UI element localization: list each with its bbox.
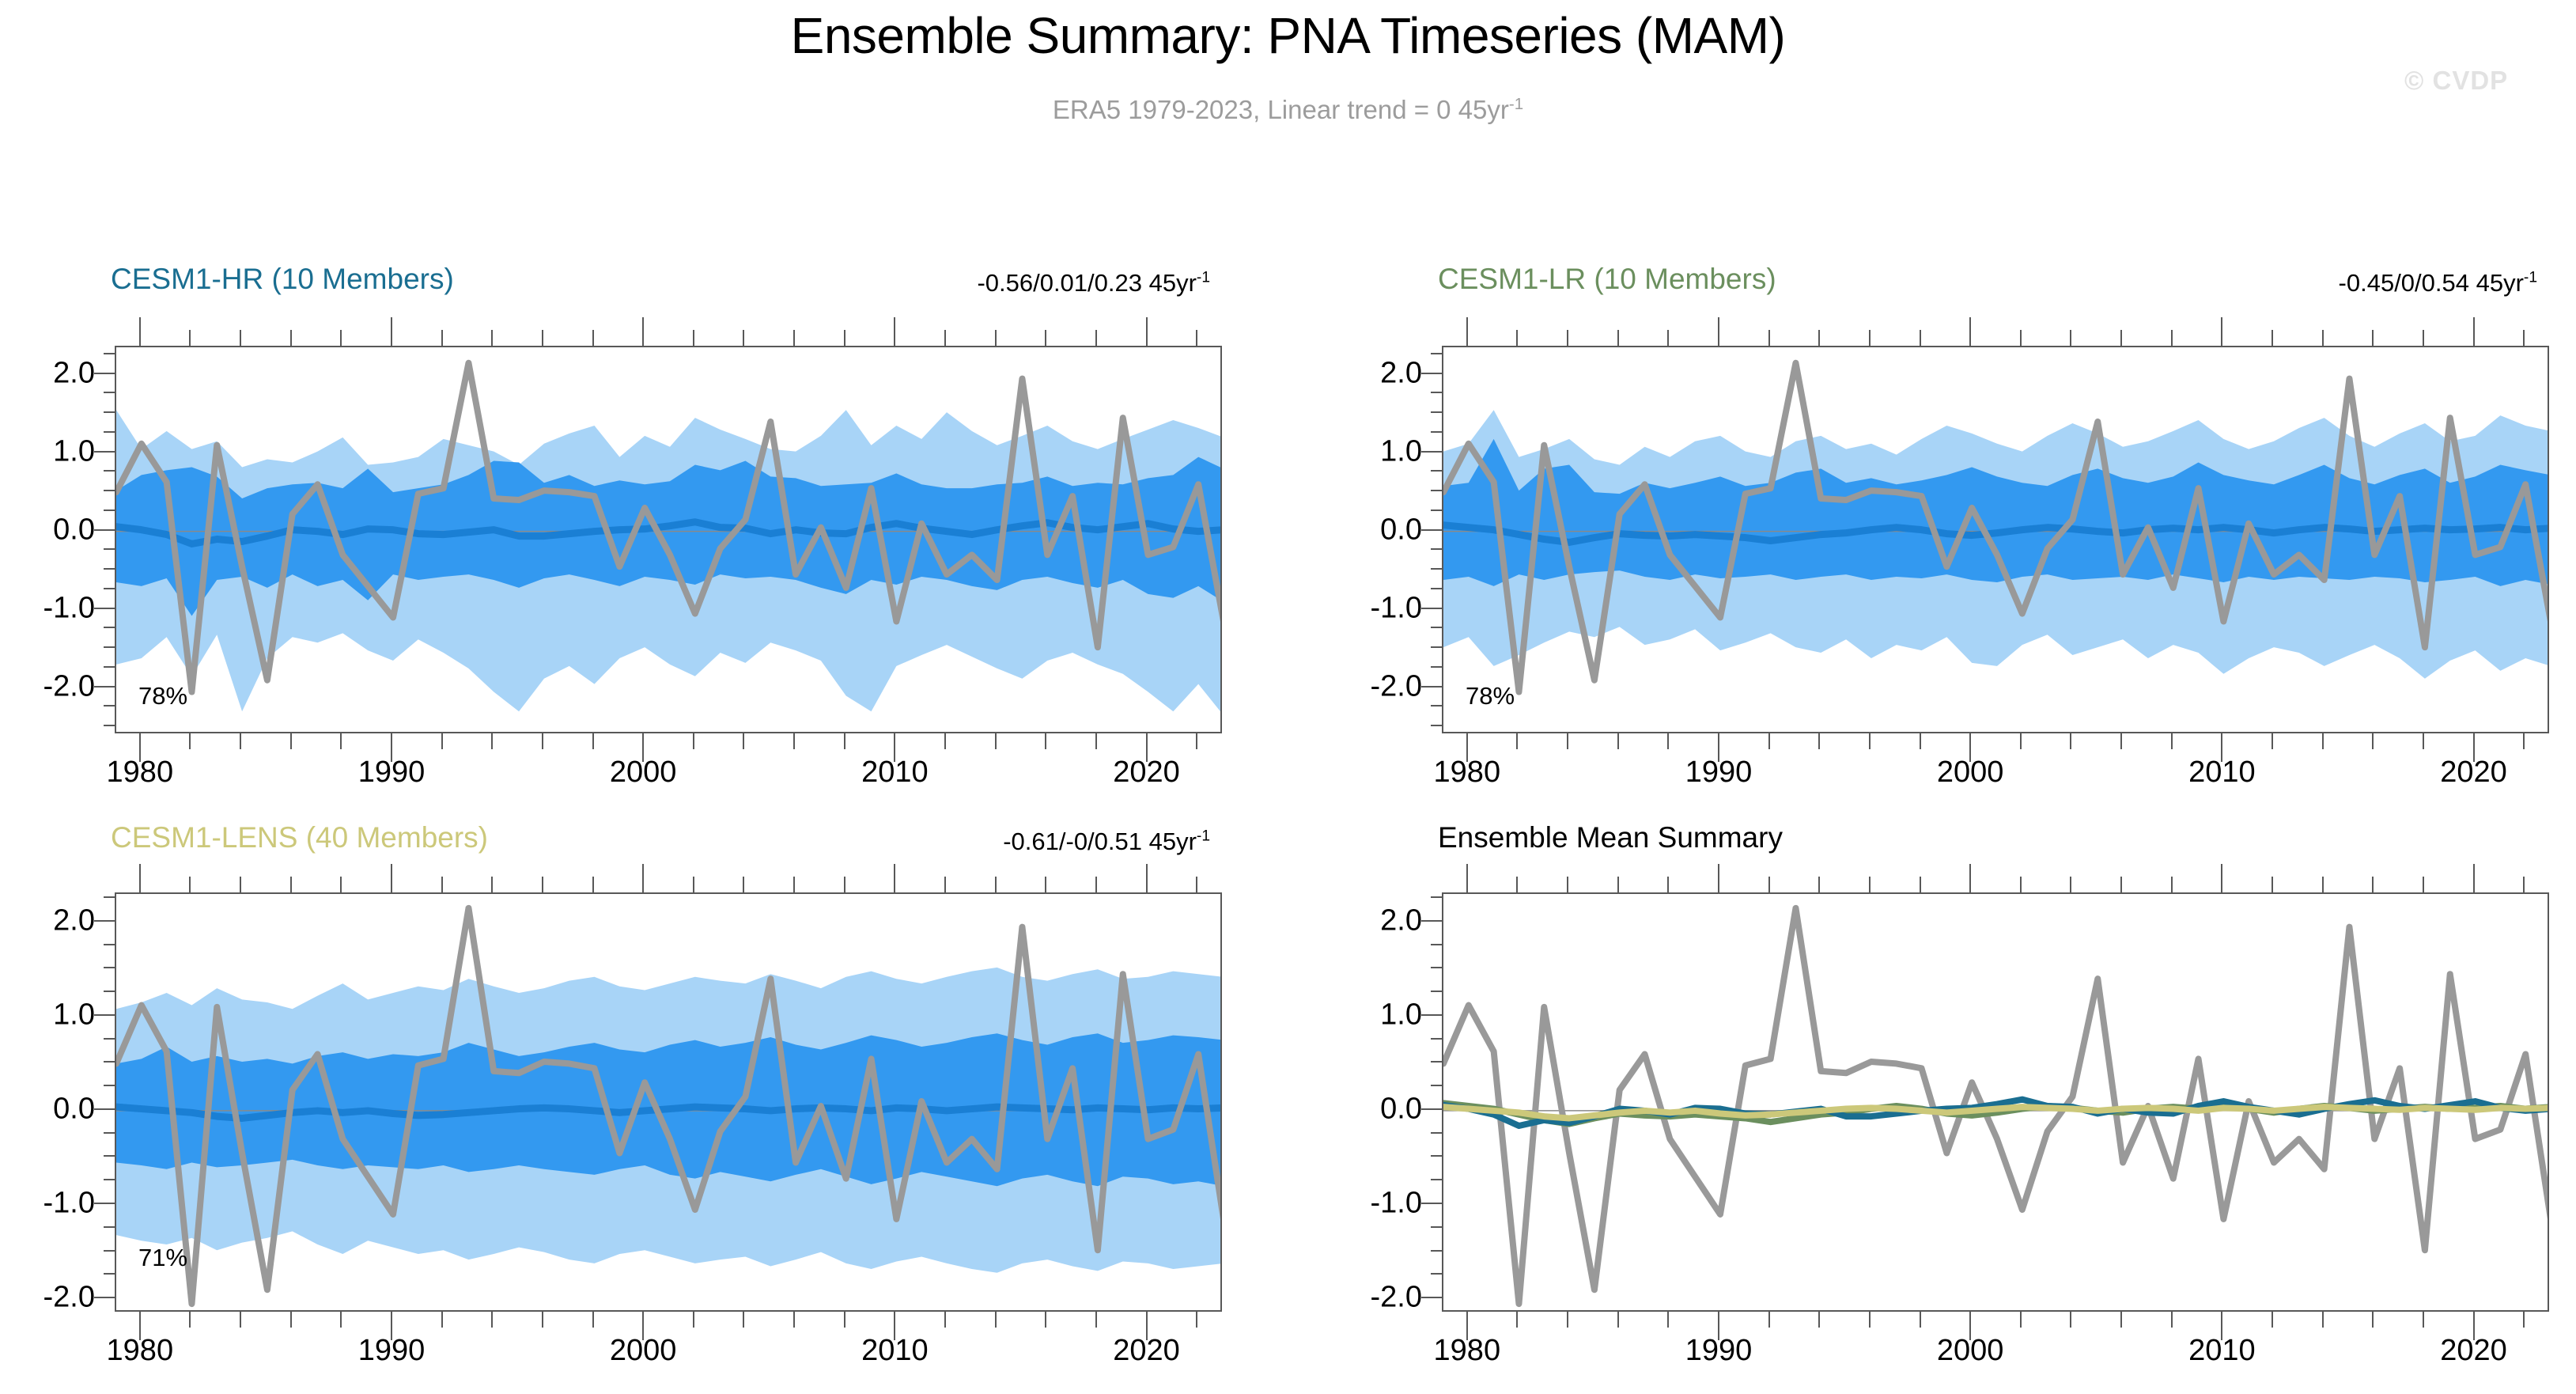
page-title: Ensemble Summary: PNA Timeseries (MAM)	[0, 6, 2576, 65]
xtick-minor	[793, 733, 795, 749]
xtick-minor	[2171, 1312, 2173, 1328]
xtick-minor	[1617, 1312, 1619, 1328]
ytick-minor	[1431, 991, 1442, 992]
ytick-label-2: 0.0	[1303, 513, 1422, 547]
xtick-minor	[2523, 330, 2525, 346]
xtick-minor	[1818, 733, 1820, 749]
ytick-major-1	[94, 1014, 115, 1016]
xtick-minor	[1045, 733, 1046, 749]
ytick-minor	[104, 646, 115, 648]
ytick-minor	[1431, 1155, 1442, 1157]
ytick-minor	[104, 431, 115, 433]
xtick-minor	[1617, 330, 1619, 346]
xtick-minor	[542, 877, 543, 892]
xtick-minor	[2423, 330, 2424, 346]
xtick-minor	[793, 1312, 795, 1328]
xtick-minor	[2423, 1312, 2424, 1328]
xtick-minor	[2120, 733, 2122, 749]
xtick-minor	[844, 1312, 845, 1328]
ytick-minor	[1431, 1179, 1442, 1180]
xtick-minor	[1667, 877, 1669, 892]
xtick-minor	[844, 877, 845, 892]
ytick-minor	[1431, 411, 1442, 413]
xtick-minor	[2423, 733, 2424, 749]
pct-in-range-cesm1-lens: 71%	[138, 1244, 187, 1272]
xtick-minor	[2322, 877, 2324, 892]
xtick-minor	[290, 733, 292, 749]
ytick-minor	[104, 1273, 115, 1275]
xtick-major-3	[894, 1312, 895, 1340]
xtick-minor	[592, 877, 594, 892]
xtick-major-3	[2221, 864, 2222, 892]
ytick-minor	[1431, 588, 1442, 589]
ytick-label-2: 0.0	[0, 513, 95, 547]
xtick-minor	[2523, 1312, 2525, 1328]
trend-superscript: -1	[1197, 828, 1210, 845]
xtick-major-0	[139, 317, 141, 346]
xtick-minor	[1920, 733, 1921, 749]
xtick-major-2	[1969, 864, 1971, 892]
xtick-minor	[1617, 733, 1619, 749]
panel-trend-cesm1-lens: -0.61/-0/0.51 45yr-1	[0, 828, 1210, 856]
xtick-minor	[1095, 1312, 1097, 1328]
xtick-minor	[1516, 877, 1518, 892]
ytick-minor	[104, 944, 115, 945]
ytick-minor	[104, 588, 115, 589]
xtick-minor	[944, 733, 946, 749]
xtick-minor	[995, 1312, 997, 1328]
xtick-minor	[1045, 877, 1046, 892]
xtick-minor	[1196, 330, 1197, 346]
ytick-major-1	[94, 451, 115, 453]
xtick-major-0	[139, 733, 141, 762]
xtick-major-3	[2221, 317, 2222, 346]
xtick-major-2	[1969, 1312, 1971, 1340]
ytick-minor	[1431, 725, 1442, 726]
xtick-minor	[592, 330, 594, 346]
xtick-major-2	[642, 864, 644, 892]
xtick-major-1	[391, 864, 392, 892]
ytick-minor	[1431, 666, 1442, 668]
ytick-label-1: 1.0	[1303, 434, 1422, 468]
xtick-minor	[441, 1312, 443, 1328]
ytick-minor	[1431, 431, 1442, 433]
ytick-minor	[104, 991, 115, 992]
series-canvas-cesm1-lr	[1443, 347, 2549, 733]
xtick-major-0	[1466, 864, 1468, 892]
ytick-label-1: 1.0	[1303, 998, 1422, 1032]
ytick-major-2	[1421, 529, 1442, 531]
ytick-minor	[1431, 705, 1442, 706]
xtick-minor	[693, 330, 694, 346]
ytick-minor	[104, 470, 115, 472]
xtick-minor	[290, 1312, 292, 1328]
series-canvas-ensemble-mean-summary	[1443, 894, 2549, 1312]
xtick-minor	[189, 1312, 191, 1328]
xtick-major-4	[2473, 1312, 2475, 1340]
ytick-minor	[1431, 1038, 1442, 1040]
xtick-minor	[844, 330, 845, 346]
xtick-minor	[1869, 330, 1871, 346]
xtick-minor	[1667, 1312, 1669, 1328]
xtick-minor	[1818, 330, 1820, 346]
xtick-major-4	[1146, 864, 1148, 892]
xtick-minor	[441, 330, 443, 346]
xtick-minor	[2070, 330, 2071, 346]
subtitle-text: ERA5 1979-2023, Linear trend = 0 45yr	[1053, 95, 1509, 124]
ytick-minor	[104, 1155, 115, 1157]
plot-area-cesm1-hr	[115, 346, 1222, 733]
ytick-minor	[1431, 490, 1442, 491]
xtick-minor	[2020, 330, 2022, 346]
xtick-minor	[1095, 877, 1097, 892]
xtick-minor	[844, 733, 845, 749]
xtick-minor	[2271, 877, 2273, 892]
xtick-major-2	[642, 1312, 644, 1340]
ytick-minor	[104, 705, 115, 706]
xtick-minor	[240, 877, 241, 892]
ytick-label-0: 2.0	[1303, 903, 1422, 938]
xtick-minor	[2120, 1312, 2122, 1328]
ytick-major-1	[1421, 1014, 1442, 1016]
panel-trend-cesm1-lr: -0.45/0/0.54 45yr-1	[0, 269, 2537, 297]
ytick-major-3	[1421, 608, 1442, 609]
xtick-minor	[793, 877, 795, 892]
xtick-minor	[1768, 733, 1770, 749]
xtick-minor	[542, 733, 543, 749]
xtick-major-0	[139, 1312, 141, 1340]
xtick-minor	[693, 733, 694, 749]
xtick-minor	[2372, 877, 2374, 892]
xtick-minor	[2322, 330, 2324, 346]
xtick-major-3	[894, 733, 895, 762]
xtick-minor	[1045, 330, 1046, 346]
xtick-major-2	[642, 733, 644, 762]
xtick-minor	[995, 877, 997, 892]
ytick-major-1	[1421, 451, 1442, 453]
ytick-minor	[1431, 353, 1442, 354]
xtick-minor	[2070, 1312, 2071, 1328]
xtick-minor	[340, 1312, 342, 1328]
xtick-minor	[1516, 1312, 1518, 1328]
xtick-minor	[491, 733, 493, 749]
ytick-minor	[104, 490, 115, 491]
ytick-minor	[1431, 568, 1442, 570]
ytick-label-2: 0.0	[1303, 1092, 1422, 1126]
ytick-minor	[104, 1085, 115, 1086]
xtick-major-4	[1146, 1312, 1148, 1340]
xtick-minor	[1869, 877, 1871, 892]
ytick-minor	[1431, 392, 1442, 393]
xtick-minor	[441, 733, 443, 749]
ytick-label-0: 2.0	[1303, 356, 1422, 390]
xtick-major-0	[1466, 733, 1468, 762]
xtick-minor	[290, 330, 292, 346]
xtick-minor	[1567, 330, 1568, 346]
xtick-minor	[1045, 1312, 1046, 1328]
xtick-minor	[743, 877, 744, 892]
ytick-minor	[1431, 646, 1442, 648]
xtick-minor	[743, 733, 744, 749]
xtick-minor	[1617, 877, 1619, 892]
ytick-major-0	[94, 373, 115, 374]
ytick-major-4	[94, 1297, 115, 1298]
panel-title-ensemble-mean-summary: Ensemble Mean Summary	[1438, 821, 1783, 854]
xtick-minor	[2271, 1312, 2273, 1328]
ytick-label-0: 2.0	[0, 356, 95, 390]
xtick-minor	[1768, 1312, 1770, 1328]
xtick-minor	[2070, 733, 2071, 749]
xtick-minor	[340, 877, 342, 892]
trend-superscript: -1	[2524, 270, 2537, 286]
series-canvas-cesm1-lens	[116, 894, 1222, 1312]
xtick-minor	[743, 330, 744, 346]
xtick-minor	[189, 733, 191, 749]
ytick-major-0	[1421, 373, 1442, 374]
ytick-major-3	[94, 1203, 115, 1204]
page-subtitle: ERA5 1979-2023, Linear trend = 0 45yr-1	[0, 95, 2576, 125]
plot-area-cesm1-lr	[1442, 346, 2549, 733]
ytick-minor	[104, 896, 115, 898]
xtick-minor	[592, 733, 594, 749]
ytick-minor	[104, 353, 115, 354]
ytick-minor	[1431, 509, 1442, 511]
xtick-minor	[1567, 877, 1568, 892]
xtick-major-0	[1466, 1312, 1468, 1340]
trend-value: -0.45/0/0.54 45yr	[2339, 269, 2524, 297]
xtick-minor	[2372, 1312, 2374, 1328]
ytick-minor	[104, 627, 115, 628]
xtick-minor	[240, 330, 241, 346]
ytick-major-2	[94, 1108, 115, 1110]
xtick-minor	[1196, 733, 1197, 749]
series-canvas-cesm1-hr	[116, 347, 1222, 733]
xtick-minor	[2120, 330, 2122, 346]
xtick-minor	[693, 877, 694, 892]
ytick-major-4	[94, 686, 115, 688]
ytick-label-1: 1.0	[0, 434, 95, 468]
xtick-minor	[240, 1312, 241, 1328]
xtick-minor	[995, 733, 997, 749]
cvdp-watermark: © CVDP	[2404, 66, 2508, 96]
ytick-major-4	[1421, 1297, 1442, 1298]
ytick-label-3: -1.0	[1303, 591, 1422, 625]
xtick-minor	[1516, 330, 1518, 346]
ytick-minor	[1431, 627, 1442, 628]
xtick-major-2	[642, 317, 644, 346]
xtick-minor	[1567, 733, 1568, 749]
xtick-minor	[2523, 877, 2525, 892]
ytick-label-4: -2.0	[1303, 669, 1422, 703]
xtick-major-4	[1146, 317, 1148, 346]
xtick-major-4	[2473, 864, 2475, 892]
ytick-major-0	[1421, 920, 1442, 922]
xtick-major-4	[1146, 733, 1148, 762]
xtick-major-3	[894, 317, 895, 346]
xtick-minor	[2372, 330, 2374, 346]
xtick-minor	[995, 330, 997, 346]
xtick-minor	[2020, 877, 2022, 892]
xtick-minor	[1869, 733, 1871, 749]
xtick-major-4	[2473, 733, 2475, 762]
ytick-minor	[104, 568, 115, 570]
trend-value: -0.61/-0/0.51 45yr	[1003, 828, 1197, 855]
plot-area-cesm1-lens	[115, 892, 1222, 1312]
ytick-minor	[104, 1061, 115, 1063]
xtick-minor	[1196, 877, 1197, 892]
xtick-major-1	[391, 733, 392, 762]
xtick-minor	[240, 733, 241, 749]
xtick-minor	[189, 330, 191, 346]
xtick-minor	[2372, 733, 2374, 749]
xtick-minor	[944, 1312, 946, 1328]
ytick-minor	[104, 548, 115, 550]
xtick-minor	[944, 877, 946, 892]
xtick-minor	[2171, 877, 2173, 892]
ytick-minor	[104, 1250, 115, 1252]
xtick-minor	[340, 330, 342, 346]
xtick-major-1	[1718, 317, 1719, 346]
xtick-minor	[542, 330, 543, 346]
xtick-minor	[441, 877, 443, 892]
ytick-minor	[104, 1038, 115, 1040]
ytick-label-0: 2.0	[0, 903, 95, 938]
ytick-label-3: -1.0	[1303, 1187, 1422, 1221]
xtick-minor	[2322, 733, 2324, 749]
xtick-minor	[1768, 877, 1770, 892]
xtick-minor	[2020, 733, 2022, 749]
ytick-minor	[1431, 1273, 1442, 1275]
xtick-minor	[1567, 1312, 1568, 1328]
ytick-minor	[104, 967, 115, 968]
xtick-minor	[1920, 330, 1921, 346]
xtick-minor	[944, 330, 946, 346]
ytick-minor	[104, 392, 115, 393]
xtick-major-1	[1718, 1312, 1719, 1340]
xtick-minor	[2020, 1312, 2022, 1328]
ytick-minor	[1431, 1226, 1442, 1228]
xtick-minor	[2271, 733, 2273, 749]
ytick-minor	[104, 509, 115, 511]
xtick-minor	[2322, 1312, 2324, 1328]
xtick-minor	[693, 1312, 694, 1328]
xtick-minor	[491, 1312, 493, 1328]
ytick-major-2	[1421, 1108, 1442, 1110]
ytick-minor	[104, 411, 115, 413]
xtick-major-3	[2221, 733, 2222, 762]
xtick-minor	[290, 877, 292, 892]
xtick-minor	[1818, 1312, 1820, 1328]
ytick-minor	[1431, 1085, 1442, 1086]
xtick-minor	[2070, 877, 2071, 892]
xtick-minor	[2120, 877, 2122, 892]
xtick-minor	[1095, 330, 1097, 346]
ytick-minor	[104, 1179, 115, 1180]
xtick-major-1	[391, 1312, 392, 1340]
xtick-minor	[1818, 877, 1820, 892]
xtick-major-1	[1718, 864, 1719, 892]
ytick-label-1: 1.0	[0, 998, 95, 1032]
ytick-minor	[1431, 470, 1442, 472]
ytick-label-2: 0.0	[0, 1092, 95, 1126]
ytick-minor	[104, 1226, 115, 1228]
xtick-minor	[542, 1312, 543, 1328]
xtick-minor	[491, 330, 493, 346]
pct-in-range-cesm1-lr: 78%	[1466, 682, 1515, 710]
xtick-major-0	[1466, 317, 1468, 346]
ytick-minor	[1431, 896, 1442, 898]
ytick-minor	[104, 666, 115, 668]
xtick-minor	[1920, 877, 1921, 892]
plot-area-ensemble-mean-summary	[1442, 892, 2549, 1312]
ytick-label-4: -2.0	[0, 669, 95, 703]
xtick-minor	[793, 330, 795, 346]
xtick-minor	[592, 1312, 594, 1328]
xtick-minor	[743, 1312, 744, 1328]
xtick-major-4	[2473, 317, 2475, 346]
ytick-major-3	[94, 608, 115, 609]
xtick-minor	[2523, 733, 2525, 749]
ytick-minor	[1431, 1061, 1442, 1063]
xtick-minor	[1869, 1312, 1871, 1328]
xtick-minor	[189, 877, 191, 892]
ytick-minor	[1431, 967, 1442, 968]
ytick-major-2	[94, 529, 115, 531]
xtick-major-1	[391, 317, 392, 346]
ytick-minor	[1431, 1250, 1442, 1252]
ytick-label-3: -1.0	[0, 1187, 95, 1221]
subtitle-superscript: -1	[1509, 95, 1523, 113]
xtick-minor	[2271, 330, 2273, 346]
xtick-minor	[1768, 330, 1770, 346]
ytick-major-4	[1421, 686, 1442, 688]
ytick-label-3: -1.0	[0, 591, 95, 625]
xtick-major-1	[1718, 733, 1719, 762]
ytick-minor	[104, 725, 115, 726]
xtick-minor	[1667, 330, 1669, 346]
ytick-label-4: -2.0	[0, 1281, 95, 1315]
xtick-minor	[2171, 330, 2173, 346]
xtick-minor	[1196, 1312, 1197, 1328]
ytick-minor	[1431, 548, 1442, 550]
ytick-minor	[1431, 1132, 1442, 1134]
xtick-major-0	[139, 864, 141, 892]
xtick-major-3	[2221, 1312, 2222, 1340]
ytick-major-0	[94, 920, 115, 922]
ytick-minor	[1431, 944, 1442, 945]
xtick-minor	[1095, 733, 1097, 749]
xtick-minor	[1920, 1312, 1921, 1328]
pct-in-range-cesm1-hr: 78%	[138, 682, 187, 710]
xtick-minor	[491, 877, 493, 892]
xtick-minor	[340, 733, 342, 749]
xtick-minor	[2423, 877, 2424, 892]
xtick-major-2	[1969, 733, 1971, 762]
ytick-minor	[104, 1132, 115, 1134]
ytick-major-3	[1421, 1203, 1442, 1204]
xtick-minor	[2171, 733, 2173, 749]
ytick-label-4: -2.0	[1303, 1281, 1422, 1315]
xtick-minor	[1667, 733, 1669, 749]
xtick-major-3	[894, 864, 895, 892]
xtick-major-2	[1969, 317, 1971, 346]
xtick-minor	[1516, 733, 1518, 749]
